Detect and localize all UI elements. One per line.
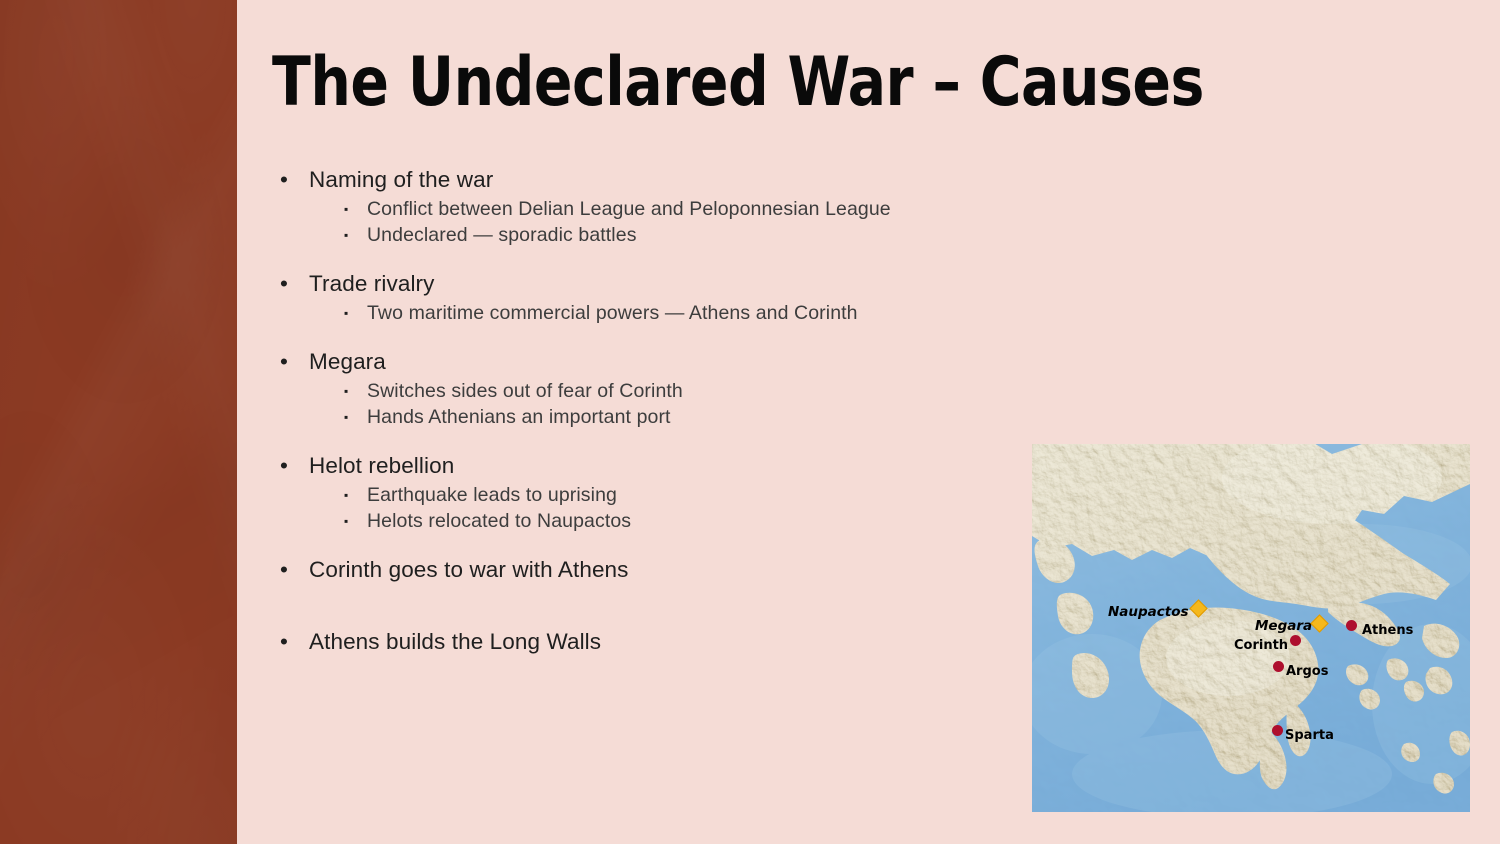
bullet-level2-text: Helots relocated to Naupactos — [367, 510, 631, 532]
bullet-marker-icon: • — [280, 556, 288, 584]
bullet-level1: • Athens builds the Long Walls — [272, 628, 1002, 656]
bullet-level1: • Megara — [272, 348, 1002, 376]
sub-bullet-marker-icon: ▪ — [344, 300, 348, 326]
bullet-level1: • Corinth goes to war with Athens — [272, 556, 1002, 584]
bullet-group: • Megara ▪ Switches sides out of fear of… — [272, 348, 1002, 430]
bullet-level1: • Helot rebellion — [272, 452, 1002, 480]
slide-title: The Undeclared War – Causes — [272, 47, 1202, 119]
bullet-marker-icon: • — [280, 628, 288, 656]
bullet-marker-icon: • — [280, 270, 288, 298]
bullet-level2-text: Switches sides out of fear of Corinth — [367, 380, 683, 402]
bullet-level2: ▪ Undeclared — sporadic battles — [272, 222, 1002, 248]
map-marker-athens-dot-icon — [1346, 620, 1357, 631]
sub-bullet-marker-icon: ▪ — [344, 508, 348, 534]
group-spacer — [272, 326, 1002, 348]
map-marker-argos-dot-icon — [1273, 661, 1284, 672]
group-spacer — [272, 248, 1002, 270]
bullet-level1: • Naming of the war — [272, 166, 1002, 194]
bullet-level1-text: Corinth goes to war with Athens — [309, 557, 629, 582]
sub-bullet-marker-icon: ▪ — [344, 482, 348, 508]
bullet-marker-icon: • — [280, 348, 288, 376]
group-spacer — [272, 534, 1002, 556]
map-label-athens: Athens — [1362, 624, 1413, 637]
bullet-level2-text: Conflict between Delian League and Pelop… — [367, 198, 891, 220]
bullet-group: • Trade rivalry ▪ Two maritime commercia… — [272, 270, 1002, 326]
bullet-level1: • Trade rivalry — [272, 270, 1002, 298]
sub-bullet-marker-icon: ▪ — [344, 196, 348, 222]
map-label-sparta: Sparta — [1285, 729, 1334, 742]
sub-bullet-marker-icon: ▪ — [344, 404, 348, 430]
bullet-group: • Corinth goes to war with Athens — [272, 556, 1002, 584]
map-marker-corinth-dot-icon — [1290, 635, 1301, 646]
bullet-level2-text: Earthquake leads to uprising — [367, 484, 617, 506]
map-label-megara: Megara — [1255, 620, 1312, 634]
bullet-level1-text: Megara — [309, 349, 386, 374]
bullet-marker-icon: • — [280, 166, 288, 194]
bullet-group: • Naming of the war ▪ Conflict between D… — [272, 166, 1002, 248]
bullet-level2-text: Undeclared — sporadic battles — [367, 224, 637, 246]
bullet-marker-icon: • — [280, 452, 288, 480]
map-image-greece: Naupactos Megara Athens Corinth Argos Sp… — [1032, 444, 1470, 812]
group-spacer — [272, 430, 1002, 452]
slide: The Undeclared War – Causes • Naming of … — [0, 0, 1500, 844]
decorative-side-panel — [0, 0, 237, 844]
map-label-naupactos: Naupactos — [1108, 606, 1189, 620]
bullet-level2: ▪ Two maritime commercial powers — Athen… — [272, 300, 1002, 326]
bullet-level2: ▪ Earthquake leads to uprising — [272, 482, 1002, 508]
bullet-group: • Helot rebellion ▪ Earthquake leads to … — [272, 452, 1002, 534]
bullet-list: • Naming of the war ▪ Conflict between D… — [272, 166, 1002, 656]
sub-bullet-marker-icon: ▪ — [344, 222, 348, 248]
bullet-level1-text: Trade rivalry — [309, 271, 435, 296]
bullet-level2: ▪ Helots relocated to Naupactos — [272, 508, 1002, 534]
bullet-level1-text: Helot rebellion — [309, 453, 454, 478]
bullet-level2: ▪ Conflict between Delian League and Pel… — [272, 196, 1002, 222]
map-marker-sparta-dot-icon — [1272, 725, 1283, 736]
group-spacer — [272, 606, 1002, 628]
bullet-level2: ▪ Switches sides out of fear of Corinth — [272, 378, 1002, 404]
bullet-level2-text: Two maritime commercial powers — Athens … — [367, 302, 858, 324]
bullet-level1-text: Naming of the war — [309, 167, 493, 192]
group-spacer — [272, 584, 1002, 606]
map-label-argos: Argos — [1286, 665, 1328, 678]
map-label-corinth: Corinth — [1234, 639, 1288, 652]
bullet-group: • Athens builds the Long Walls — [272, 628, 1002, 656]
panel-texture-layer-4 — [0, 0, 237, 844]
bullet-level2-text: Hands Athenians an important port — [367, 406, 671, 428]
bullet-level1-text: Athens builds the Long Walls — [309, 629, 601, 654]
sub-bullet-marker-icon: ▪ — [344, 378, 348, 404]
bullet-level2: ▪ Hands Athenians an important port — [272, 404, 1002, 430]
